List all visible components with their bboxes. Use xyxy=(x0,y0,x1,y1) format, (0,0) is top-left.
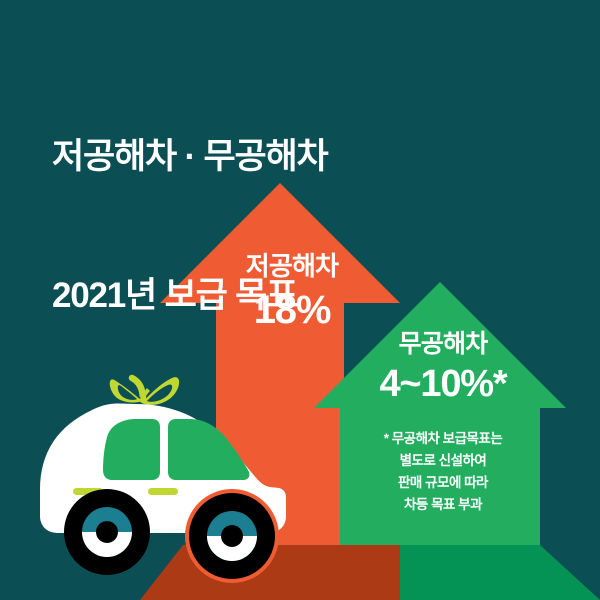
car-trim-front xyxy=(148,488,178,495)
infographic-artwork xyxy=(0,0,600,600)
infographic-poster: 저공해차 · 무공해차 2021년 보급 목표 저공해차 18% 무공해차 4~… xyxy=(0,0,600,600)
car-wheel-front xyxy=(185,489,279,583)
car-wheel-rear xyxy=(64,489,150,575)
